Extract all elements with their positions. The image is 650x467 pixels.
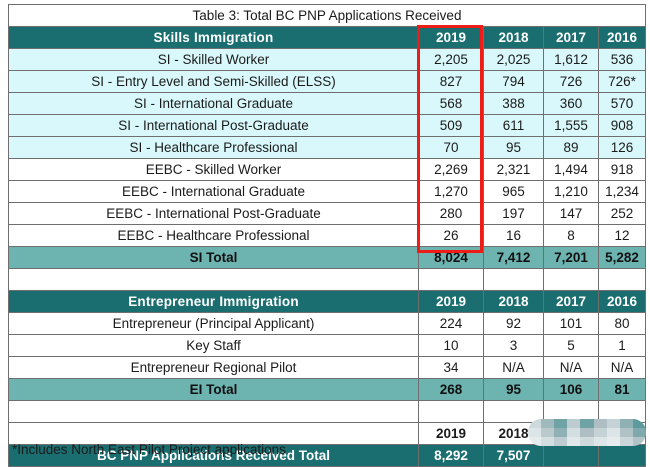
spacer-cell: [419, 401, 484, 423]
cell-2016: 80: [599, 313, 646, 335]
column-header-2018: 2018: [484, 27, 544, 49]
spacer-cell: [544, 269, 599, 291]
cell-2017: N/A: [544, 357, 599, 379]
table-row: EEBC - Healthcare Professional 26 16 8 1…: [9, 225, 646, 247]
cell-2017: 726: [544, 71, 599, 93]
ei-total-2019: 268: [419, 379, 484, 401]
si-total-2017: 7,201: [544, 247, 599, 269]
spacer-cell: [9, 401, 419, 423]
cell-2018: 2,025: [484, 49, 544, 71]
cell-2019: 509: [419, 115, 484, 137]
si-total-row: SI Total 8,024 7,412 7,201 5,282: [9, 247, 646, 269]
cell-2019: 827: [419, 71, 484, 93]
cell-2019: 224: [419, 313, 484, 335]
row-label: SI - Skilled Worker: [9, 49, 419, 71]
redaction-overlay: [528, 419, 646, 446]
ei-total-label: EI Total: [9, 379, 419, 401]
cell-2019: 1,270: [419, 181, 484, 203]
cell-2018: 2,321: [484, 159, 544, 181]
column-header-2016: 2016: [599, 291, 646, 313]
bc-pnp-applications-table: Table 3: Total BC PNP Applications Recei…: [8, 4, 646, 467]
cell-2016: 12: [599, 225, 646, 247]
cell-2017: 101: [544, 313, 599, 335]
table-row: Entrepreneur Regional Pilot 34 N/A N/A N…: [9, 357, 646, 379]
column-header-2017: 2017: [544, 291, 599, 313]
spacer-cell: [599, 269, 646, 291]
cell-2017: 1,612: [544, 49, 599, 71]
row-label: EEBC - Skilled Worker: [9, 159, 419, 181]
cell-2016: 918: [599, 159, 646, 181]
spacer-cell: [9, 269, 419, 291]
table-row: SI - Entry Level and Semi-Skilled (ELSS)…: [9, 71, 646, 93]
entrepreneur-section-header-row: Entrepreneur Immigration 2019 2018 2017 …: [9, 291, 646, 313]
row-label: SI - International Graduate: [9, 93, 419, 115]
table-row: SI - International Post-Graduate 509 611…: [9, 115, 646, 137]
table-title-row: Table 3: Total BC PNP Applications Recei…: [9, 5, 646, 27]
ei-total-2017: 106: [544, 379, 599, 401]
cell-2018: 611: [484, 115, 544, 137]
cell-2017: 89: [544, 137, 599, 159]
row-label: EEBC - International Post-Graduate: [9, 203, 419, 225]
grand-total-2019: 8,292: [419, 445, 484, 467]
cell-2018: 965: [484, 181, 544, 203]
column-header-2019: 2019: [419, 423, 484, 445]
ei-total-2018: 95: [484, 379, 544, 401]
row-label: SI - International Post-Graduate: [9, 115, 419, 137]
cell-2018: 388: [484, 93, 544, 115]
cell-2018: 794: [484, 71, 544, 93]
table-row: EEBC - International Post-Graduate 280 1…: [9, 203, 646, 225]
cell-2016: 126: [599, 137, 646, 159]
skills-section-header-label: Skills Immigration: [9, 27, 419, 49]
row-label: SI - Entry Level and Semi-Skilled (ELSS): [9, 71, 419, 93]
column-header-2019: 2019: [419, 291, 484, 313]
ei-total-row: EI Total 268 95 106 81: [9, 379, 646, 401]
cell-2017: 1,555: [544, 115, 599, 137]
cell-2019: 280: [419, 203, 484, 225]
column-header-2016: 2016: [599, 27, 646, 49]
cell-2017: 5: [544, 335, 599, 357]
row-label: EEBC - Healthcare Professional: [9, 225, 419, 247]
cell-2018: 16: [484, 225, 544, 247]
cell-2018: 92: [484, 313, 544, 335]
cell-2017: 8: [544, 225, 599, 247]
cell-2017: 360: [544, 93, 599, 115]
table-row: SI - International Graduate 568 388 360 …: [9, 93, 646, 115]
table-footnote: *Includes North East Pilot Project appli…: [12, 442, 286, 457]
grand-total-2017: [544, 445, 599, 467]
cell-2018: N/A: [484, 357, 544, 379]
spacer-cell: [484, 401, 544, 423]
cell-2019: 568: [419, 93, 484, 115]
grand-total-2018: 7,507: [484, 445, 544, 467]
si-total-2018: 7,412: [484, 247, 544, 269]
table-row: EEBC - International Graduate 1,270 965 …: [9, 181, 646, 203]
cell-2016: 1,234: [599, 181, 646, 203]
row-label: Key Staff: [9, 335, 419, 357]
table-row: Entrepreneur (Principal Applicant) 224 9…: [9, 313, 646, 335]
column-header-2018: 2018: [484, 291, 544, 313]
cell-2019: 70: [419, 137, 484, 159]
column-header-2017: 2017: [544, 27, 599, 49]
applications-table-container: Table 3: Total BC PNP Applications Recei…: [8, 4, 645, 467]
cell-2016: N/A: [599, 357, 646, 379]
cell-2017: 147: [544, 203, 599, 225]
cell-2017: 1,210: [544, 181, 599, 203]
skills-section-header-row: Skills Immigration 2019 2018 2017 2016: [9, 27, 646, 49]
si-total-label: SI Total: [9, 247, 419, 269]
si-total-2019: 8,024: [419, 247, 484, 269]
spacer-cell: [419, 269, 484, 291]
row-label: SI - Healthcare Professional: [9, 137, 419, 159]
cell-2018: 197: [484, 203, 544, 225]
table-row: SI - Healthcare Professional 70 95 89 12…: [9, 137, 646, 159]
cell-2019: 2,205: [419, 49, 484, 71]
grand-total-2016: [599, 445, 646, 467]
cell-2016: 536: [599, 49, 646, 71]
cell-2016: 908: [599, 115, 646, 137]
cell-2016: 570: [599, 93, 646, 115]
entrepreneur-section-header-label: Entrepreneur Immigration: [9, 291, 419, 313]
cell-2019: 10: [419, 335, 484, 357]
table-row: Key Staff 10 3 5 1: [9, 335, 646, 357]
section-spacer-row: [9, 269, 646, 291]
table-row: SI - Skilled Worker 2,205 2,025 1,612 53…: [9, 49, 646, 71]
row-label: Entrepreneur (Principal Applicant): [9, 313, 419, 335]
cell-2019: 34: [419, 357, 484, 379]
column-header-2019: 2019: [419, 27, 484, 49]
spacer-cell: [484, 269, 544, 291]
cell-2019: 26: [419, 225, 484, 247]
cell-2016: 1: [599, 335, 646, 357]
row-label: Entrepreneur Regional Pilot: [9, 357, 419, 379]
table-title: Table 3: Total BC PNP Applications Recei…: [9, 5, 646, 27]
row-label: EEBC - International Graduate: [9, 181, 419, 203]
table-row: EEBC - Skilled Worker 2,269 2,321 1,494 …: [9, 159, 646, 181]
cell-2016: 726*: [599, 71, 646, 93]
screenshot-page: Table 3: Total BC PNP Applications Recei…: [0, 0, 650, 462]
cell-2019: 2,269: [419, 159, 484, 181]
si-total-2016: 5,282: [599, 247, 646, 269]
cell-2018: 95: [484, 137, 544, 159]
cell-2017: 1,494: [544, 159, 599, 181]
cell-2018: 3: [484, 335, 544, 357]
ei-total-2016: 81: [599, 379, 646, 401]
cell-2016: 252: [599, 203, 646, 225]
